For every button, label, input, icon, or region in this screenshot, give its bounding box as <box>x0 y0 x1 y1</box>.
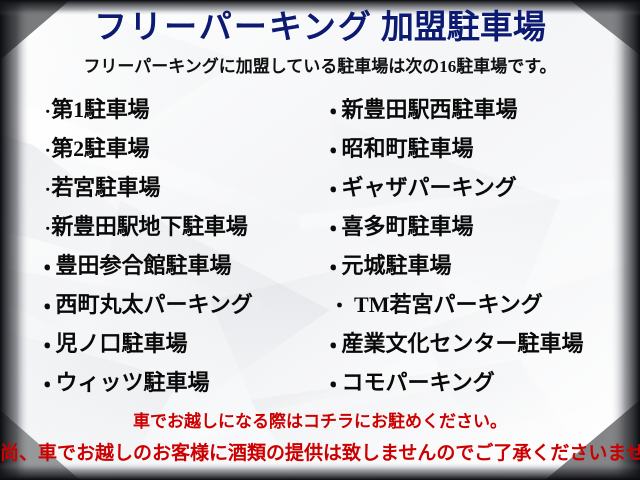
list-item: ・西町丸太パーキング <box>44 285 318 324</box>
parking-right-7-label: 産業文化センター駐車場 <box>341 331 583 356</box>
footer-note-primary: 車でお越しになる際はコチラにお駐めください。 <box>0 410 640 434</box>
list-item: ･第2駐車場 <box>44 129 318 168</box>
parking-right-4-label: 喜多町駐車場 <box>341 214 473 239</box>
list-item: ・昭和町駐車場 <box>330 129 640 168</box>
parking-left-6-label: 西町丸太パーキング <box>55 292 252 317</box>
parking-right-6-label: TM若宮パーキング <box>354 292 543 317</box>
parking-left-5-label: 豊田参合館駐車場 <box>55 253 231 278</box>
list-item: ・TM若宮パーキング <box>330 285 640 324</box>
parking-lists: ･第1駐車場･第2駐車場･若宮駐車場･新豊田駅地下駐車場・豊田参合館駐車場・西町… <box>0 90 640 400</box>
footer-note-secondary: 尚、車でお越しのお客様に酒類の提供は致しませんのでご了承くださいませ。 <box>0 441 640 467</box>
list-item: ・元城駐車場 <box>330 246 640 285</box>
bullet-icon: ・ <box>330 257 336 278</box>
parking-left-2-label: 第2駐車場 <box>51 136 149 161</box>
list-item: ・ウィッツ駐車場 <box>44 363 318 402</box>
bullet-icon: ・ <box>44 335 50 356</box>
bullet-icon: ・ <box>330 335 336 356</box>
parking-list-left-column: ･第1駐車場･第2駐車場･若宮駐車場･新豊田駅地下駐車場・豊田参合館駐車場・西町… <box>0 90 318 400</box>
list-item: ・新豊田駅西駐車場 <box>330 90 640 129</box>
bullet-icon: ・ <box>330 296 349 317</box>
list-item: ・児ノ口駐車場 <box>44 324 318 363</box>
parking-right-1-label: 新豊田駅西駐車場 <box>341 97 517 122</box>
title-kana: フリーパーキング <box>94 10 373 46</box>
parking-right-2-label: 昭和町駐車場 <box>341 136 473 161</box>
parking-left-1-label: 第1駐車場 <box>51 97 149 122</box>
bullet-icon: ・ <box>330 218 336 239</box>
parking-left-8-label: ウィッツ駐車場 <box>55 370 209 395</box>
bullet-icon: ・ <box>44 296 50 317</box>
parking-right-5-label: 元城駐車場 <box>341 253 451 278</box>
bullet-icon: ・ <box>330 140 336 161</box>
parking-info-slide: フリーパーキング加盟駐車場 フリーパーキングに加盟している駐車場は次の16駐車場… <box>0 0 640 480</box>
list-item: ･第1駐車場 <box>44 90 318 129</box>
list-item: ・産業文化センター駐車場 <box>330 324 640 363</box>
bullet-icon: ・ <box>330 101 336 122</box>
parking-right-8-label: コモパーキング <box>341 370 494 395</box>
bullet-icon: ・ <box>330 374 336 395</box>
subtitle: フリーパーキングに加盟している駐車場は次の16駐車場です。 <box>0 55 640 79</box>
parking-left-4-label: 新豊田駅地下駐車場 <box>51 214 247 239</box>
bullet-icon: ・ <box>44 374 50 395</box>
bullet-icon: ・ <box>330 179 336 200</box>
list-item: ･新豊田駅地下駐車場 <box>44 207 318 246</box>
list-item: ・コモパーキング <box>330 363 640 402</box>
list-item: ･若宮駐車場 <box>44 168 318 207</box>
parking-right-3-label: ギャザパーキング <box>341 175 516 200</box>
parking-left-7-label: 児ノ口駐車場 <box>55 331 187 356</box>
list-item: ・喜多町駐車場 <box>330 207 640 246</box>
page-title: フリーパーキング加盟駐車場 <box>0 8 640 48</box>
list-item: ・ギャザパーキング <box>330 168 640 207</box>
parking-left-3-label: 若宮駐車場 <box>51 175 160 200</box>
list-item: ・豊田参合館駐車場 <box>44 246 318 285</box>
parking-list-right-column: ・新豊田駅西駐車場・昭和町駐車場・ギャザパーキング・喜多町駐車場・元城駐車場・T… <box>318 90 640 400</box>
title-kanji: 加盟駐車場 <box>381 10 546 46</box>
bullet-icon: ・ <box>44 257 50 278</box>
